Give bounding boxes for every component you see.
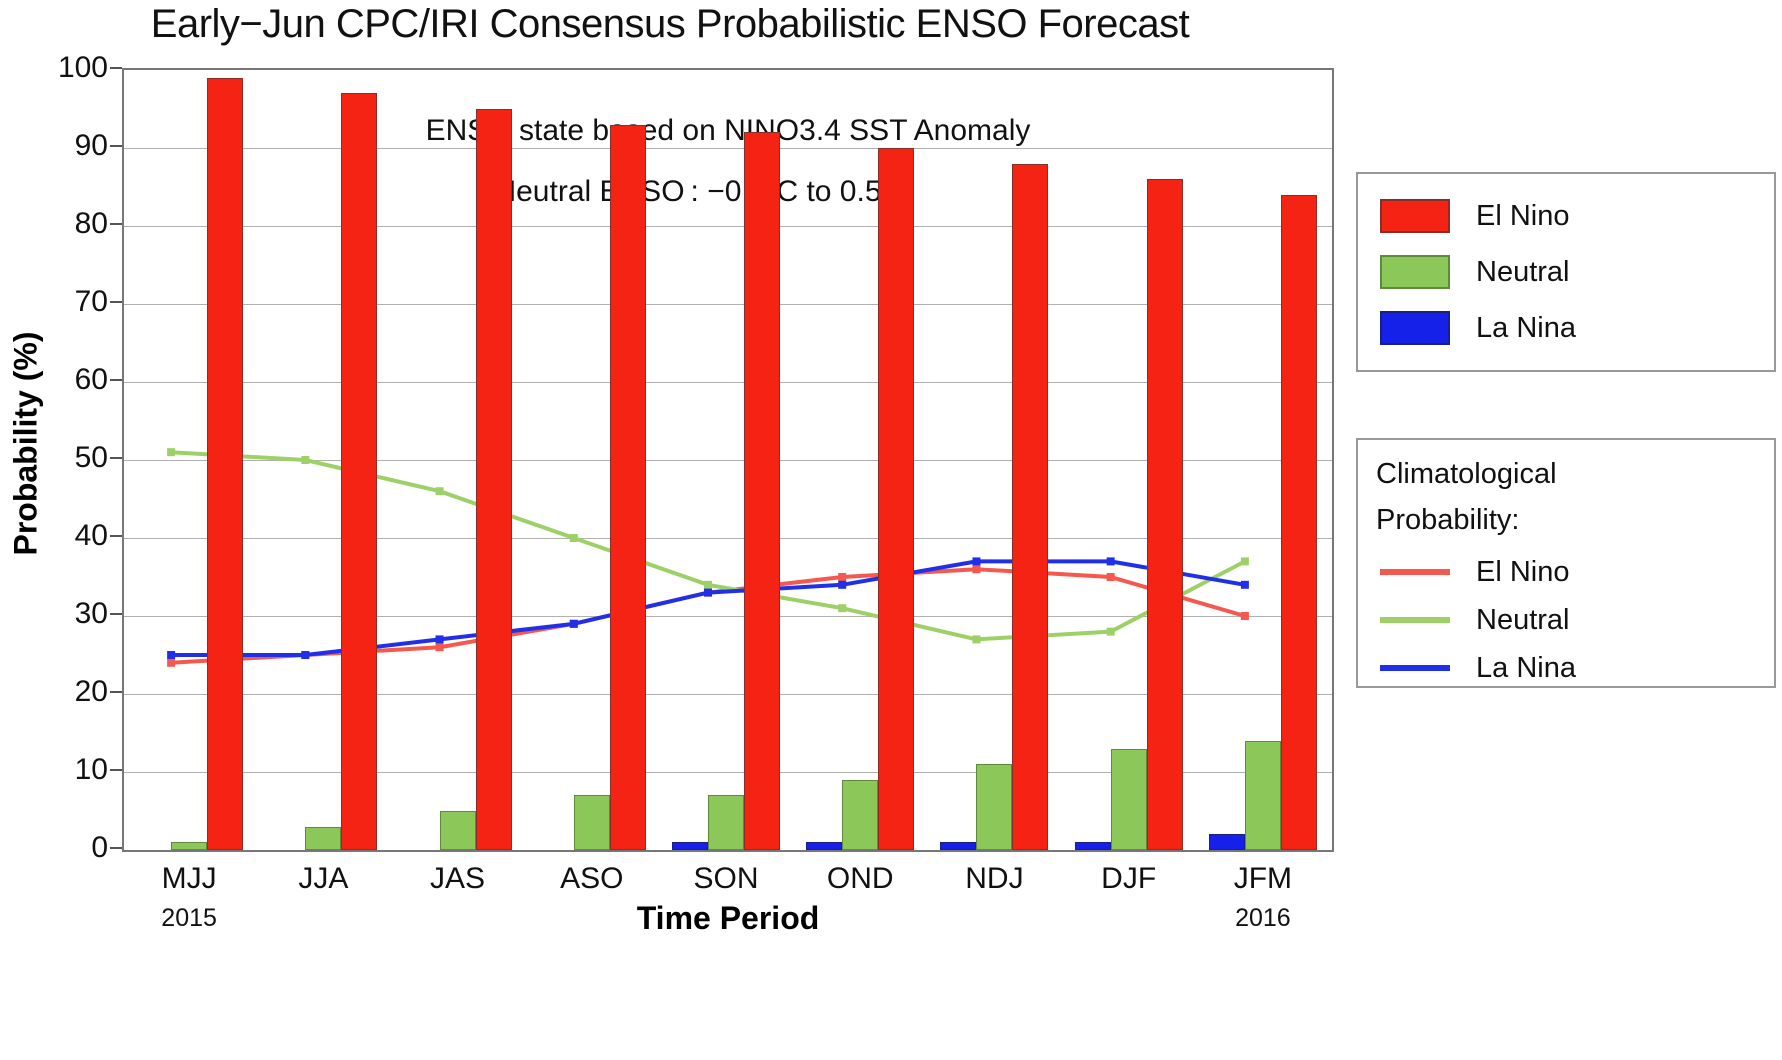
line-marker [972,565,980,573]
bar-el-jja [341,93,377,850]
legend-item-el[interactable]: El Nino [1380,196,1570,236]
line-climatological-neutral [171,452,1245,639]
bar-el-aso [610,125,646,850]
x-tick-label-jas: JAS [430,862,485,896]
line-marker [704,589,712,597]
line-marker [570,620,578,628]
legend-item-lan[interactable]: La Nina [1380,308,1576,348]
legend-label: El Nino [1476,556,1570,589]
legend-label: Neutral [1476,256,1570,289]
line-marker [1107,628,1115,636]
plot-area: ENSO state based on NINO3.4 SST Anomaly … [122,68,1334,852]
line-marker [704,581,712,589]
line-marker [436,643,444,651]
x-tick-label-ond: OND [827,862,894,896]
bar-el-jfm [1281,195,1317,850]
line-marker [1241,557,1249,565]
y-tick-mark [110,691,122,693]
line-marker [704,589,712,597]
x-tick-label-jfm: JFM [1234,862,1292,896]
legend-label: La Nina [1476,652,1576,685]
bar-neu-aso [574,795,610,850]
legend-line-item-lan[interactable]: La Nina [1380,648,1576,688]
legend-label: La Nina [1476,312,1576,345]
y-tick-mark [110,67,122,69]
bar-lan-ndj [940,842,976,850]
annotation-neutral-range: Neutral ENSO : −0.5oC to 0.5oC [494,174,913,209]
bar-el-djf [1147,179,1183,850]
y-tick-label: 100 [58,51,108,85]
legend-climatology: Climatological Probability: El NinoNeutr… [1356,438,1776,688]
bar-neu-mjj [171,842,207,850]
legend-heading-line2: Probability: [1376,504,1519,537]
bar-neu-jas [440,811,476,850]
legend-label: El Nino [1476,200,1570,233]
x-tick-label-jja: JJA [298,862,348,896]
legend-label: Neutral [1476,604,1570,637]
legend-heading-line1: Climatological [1376,458,1557,491]
x-tick-label-aso: ASO [560,862,623,896]
y-tick-mark [110,457,122,459]
bar-lan-jfm [1209,834,1245,850]
y-tick-mark [110,847,122,849]
legend-bar-series: El NinoNeutralLa Nina [1356,172,1776,372]
line-marker [436,635,444,643]
line-marker [972,635,980,643]
bar-neu-son [708,795,744,850]
y-tick-label: 10 [75,753,108,787]
line-marker [167,651,175,659]
y-tick-mark [110,223,122,225]
neu-line-swatch-icon [1380,617,1450,623]
bar-lan-ond [806,842,842,850]
x-tick-label-son: SON [693,862,758,896]
y-tick-label: 60 [75,363,108,397]
page-title: Early−Jun CPC/IRI Consensus Probabilisti… [0,2,1340,47]
bar-neu-ond [842,780,878,850]
bar-neu-jfm [1245,741,1281,850]
line-marker [838,581,846,589]
lan-line-swatch-icon [1380,665,1450,671]
x-axis-title: Time Period [122,900,1334,937]
line-climatological-la-nina [171,561,1245,655]
bar-neu-djf [1111,749,1147,850]
bar-el-mjj [207,78,243,850]
bar-lan-son [672,842,708,850]
line-marker [1107,557,1115,565]
line-marker [838,604,846,612]
y-tick-label: 40 [75,519,108,553]
line-marker [436,487,444,495]
bar-el-jas [476,109,512,850]
y-tick-label: 0 [91,831,108,865]
y-tick-mark [110,379,122,381]
bar-neu-jja [305,827,341,850]
line-marker [301,651,309,659]
y-tick-label: 20 [75,675,108,709]
y-tick-mark [110,145,122,147]
lan-swatch-icon [1380,311,1450,345]
line-marker [1241,581,1249,589]
legend-item-neu[interactable]: Neutral [1380,252,1570,292]
annotation-enso-state: ENSO state based on NINO3.4 SST Anomaly [426,114,1031,148]
y-tick-mark [110,535,122,537]
gridline [124,148,1332,149]
y-axis-title: Probability (%) [8,254,45,634]
line-marker [972,557,980,565]
bar-lan-djf [1075,842,1111,850]
x-tick-label-ndj: NDJ [965,862,1023,896]
bar-el-ndj [1012,164,1048,850]
line-marker [167,659,175,667]
line-marker [1107,573,1115,581]
y-tick-mark [110,301,122,303]
line-marker [570,620,578,628]
legend-line-item-neu[interactable]: Neutral [1380,600,1570,640]
y-tick-mark [110,769,122,771]
y-tick-label: 90 [75,129,108,163]
line-marker [838,573,846,581]
y-tick-label: 50 [75,441,108,475]
el-swatch-icon [1380,199,1450,233]
y-tick-mark [110,613,122,615]
line-marker [167,448,175,456]
legend-line-item-el[interactable]: El Nino [1380,552,1570,592]
x-tick-label-mjj: MJJ [162,862,217,896]
el-line-swatch-icon [1380,569,1450,575]
y-tick-label: 70 [75,285,108,319]
bar-neu-ndj [976,764,1012,850]
bar-el-ond [878,148,914,850]
neu-swatch-icon [1380,255,1450,289]
x-tick-label-djf: DJF [1101,862,1156,896]
line-marker [301,651,309,659]
y-tick-label: 80 [75,207,108,241]
bar-el-son [744,132,780,850]
y-tick-label: 30 [75,597,108,631]
